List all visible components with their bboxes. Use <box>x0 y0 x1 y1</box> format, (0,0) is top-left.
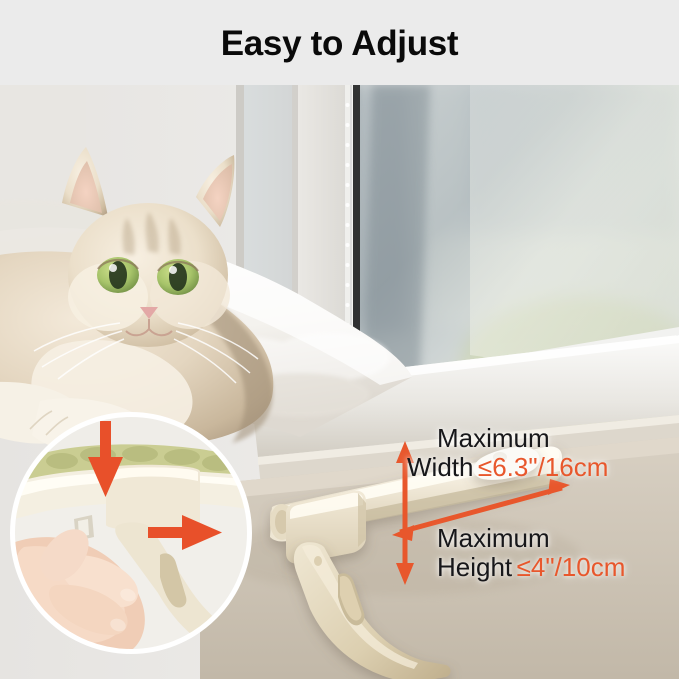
product-infographic: Easy to Adjust <box>0 0 679 679</box>
max-width-line1: Maximum <box>437 423 550 453</box>
max-height-value: ≤4"/10cm <box>517 552 626 582</box>
header-band: Easy to Adjust <box>0 0 679 85</box>
max-width-label: Width <box>407 452 473 482</box>
max-height-line1: Maximum <box>437 523 550 553</box>
page-title: Easy to Adjust <box>0 24 679 64</box>
product-photo <box>0 85 679 679</box>
photo-illustration <box>0 85 679 679</box>
max-height-annotation: Maximum Height ≤4"/10cm <box>437 524 625 582</box>
max-width-value: ≤6.3"/16cm <box>478 452 608 482</box>
max-width-annotation: Maximum Width ≤6.3"/16cm <box>437 424 608 482</box>
max-height-label: Height <box>437 552 512 582</box>
